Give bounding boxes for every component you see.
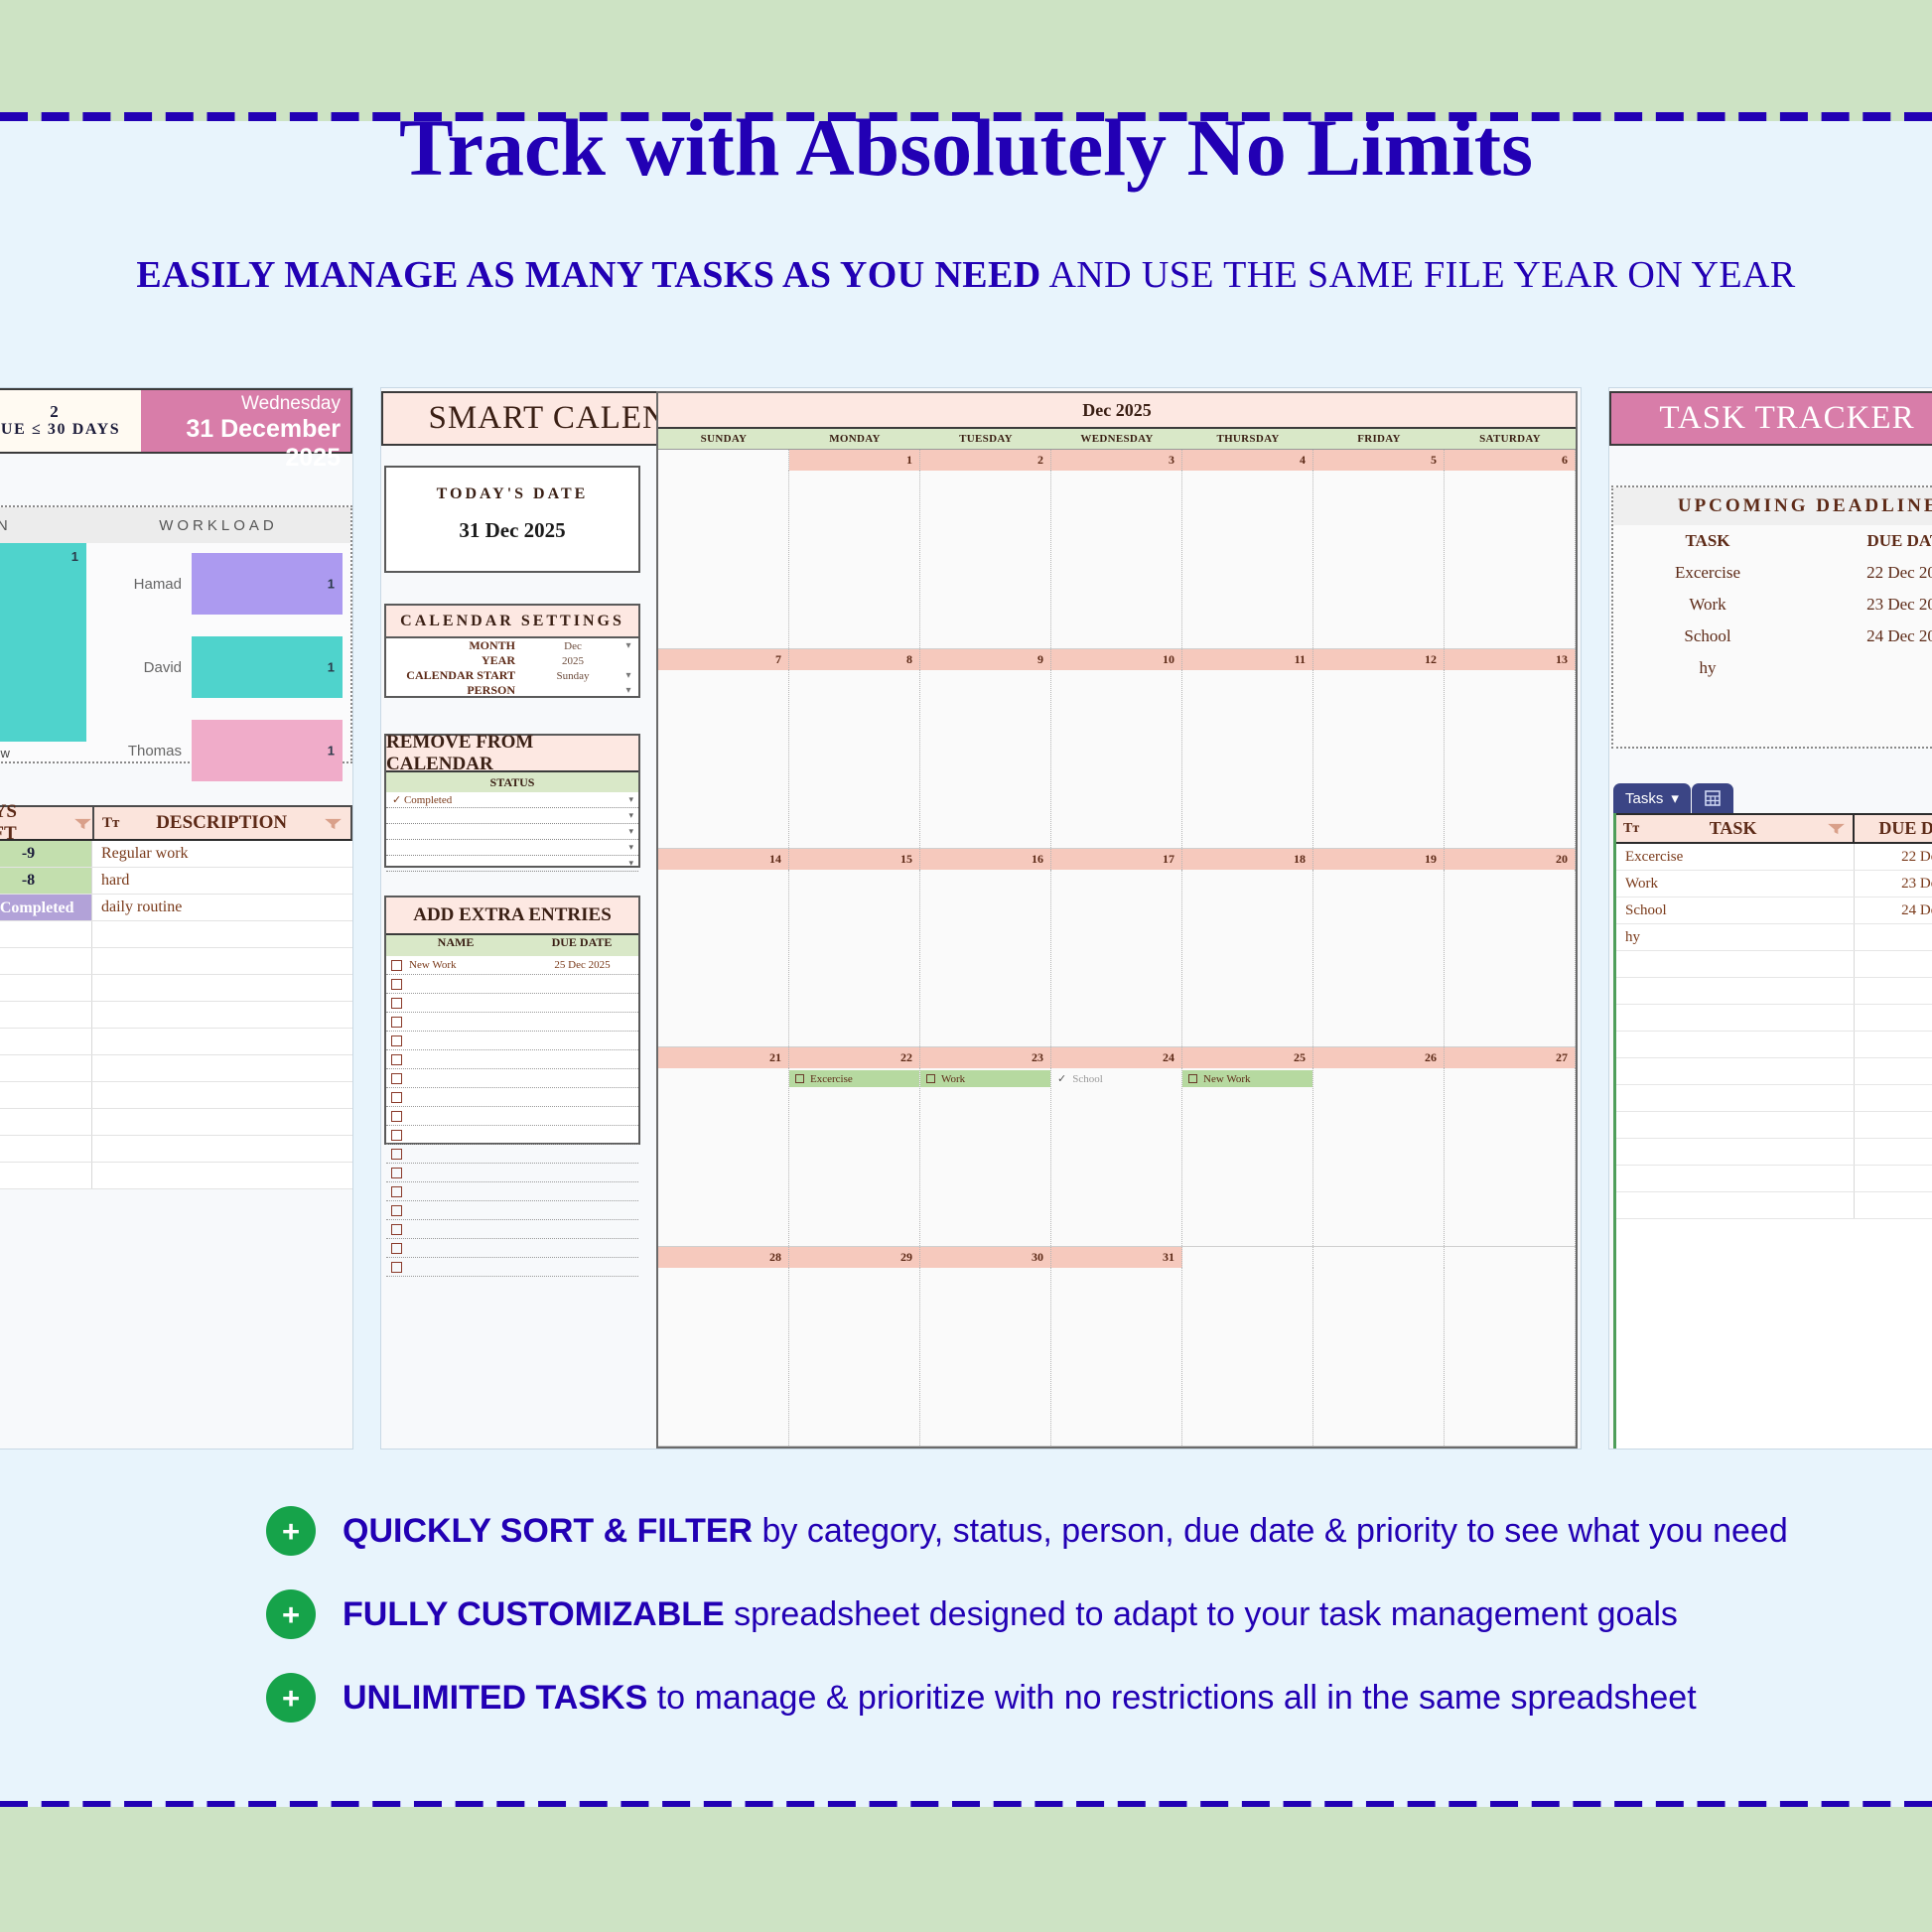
calendar-day-number[interactable]: 14 [658, 849, 789, 870]
checkbox-icon[interactable] [391, 998, 402, 1009]
extra-col-name-label: NAME [386, 935, 525, 956]
workload-value: 1 [328, 660, 335, 675]
calendar-day-number[interactable]: 2 [920, 450, 1051, 471]
extra-col-due-label: DUE DATE [525, 935, 638, 956]
upcoming-deadlines-card: UPCOMING DEADLINES TASK DUE DATE Excerci… [1611, 485, 1932, 749]
chevron-down-icon[interactable]: ▾ [1671, 789, 1679, 807]
extra-entry-row [386, 994, 638, 1013]
calendar-event-cells [658, 1268, 1576, 1446]
cell-days-left [0, 1082, 92, 1108]
remove-status-col-label: STATUS [386, 772, 638, 792]
calendar-day-cell[interactable] [658, 471, 789, 648]
table-row [0, 1163, 352, 1189]
cell-description [92, 1029, 352, 1054]
tasks-table-left-body: -9Regular work-8hard✓ Completeddaily rou… [0, 841, 352, 1189]
calendar-day-number[interactable]: 8 [789, 649, 920, 670]
workload-person-name: David [96, 659, 192, 676]
col-days-left[interactable]: DAYS LEFT [0, 807, 94, 839]
cell-days-left [0, 921, 92, 947]
cell-due-date[interactable] [1855, 1112, 1932, 1138]
col-task-right-label: TASK [1651, 818, 1815, 839]
feature-bullet: +QUICKLY SORT & FILTER by category, stat… [0, 1489, 1932, 1573]
calendar-day-cell[interactable] [1182, 1268, 1313, 1446]
cell-due-date[interactable]: 24 Dec 2025 [1855, 897, 1932, 923]
filter-icon[interactable] [1827, 822, 1846, 835]
remove-status-rows: ✓ Completed▾▾▾▾▾ [386, 792, 638, 872]
upcoming-task: hy [1613, 658, 1802, 678]
calendar-weekday: SATURDAY [1445, 429, 1576, 449]
cell-description [92, 1055, 352, 1081]
calendar-week-row: 28293031 [658, 1247, 1576, 1447]
calendar-day-number[interactable]: 16 [920, 849, 1051, 870]
setting-value: 2025 [527, 655, 619, 667]
cell-due-date[interactable] [1855, 924, 1932, 950]
tab-tasks[interactable]: Tasks ▾ [1613, 783, 1691, 813]
calendar-day-number[interactable]: 24 [1051, 1047, 1182, 1068]
remove-status-dropdown[interactable]: ▾ [386, 824, 638, 840]
screenshot-strip: 2 DUE ≤ 30 DAYS Wednesday 31 December 20… [0, 387, 1932, 1449]
checkbox-icon[interactable] [391, 1149, 402, 1160]
cell-task[interactable] [1616, 1005, 1855, 1031]
add-extra-entries-rows: New Work25 Dec 2025 [386, 956, 638, 1277]
checkbox-icon[interactable] [391, 960, 402, 971]
calendar-day-cell[interactable] [1313, 471, 1445, 648]
remove-status-dropdown[interactable]: ✓ Completed▾ [386, 792, 638, 808]
calendar-day-cell[interactable] [1051, 670, 1182, 848]
table-row [0, 1136, 352, 1163]
cell-description: daily routine [92, 895, 352, 920]
add-sheet-button[interactable] [1692, 783, 1733, 813]
calendar-day-numbers: 28293031 [658, 1247, 1576, 1268]
extra-entry-row [386, 1032, 638, 1050]
extra-entry-row [386, 1258, 638, 1277]
calendar-day-cell[interactable] [658, 670, 789, 848]
cell-due-date[interactable] [1855, 1058, 1932, 1084]
calendar-day-cell[interactable] [658, 1268, 789, 1446]
calendar-event-cells: ExcerciseWork✓SchoolNew Work [658, 1068, 1576, 1246]
calendar-day-numbers: 21222324252627 [658, 1047, 1576, 1068]
cell-due-date[interactable]: 22 Dec 2025 [1855, 844, 1932, 870]
cell-task[interactable] [1616, 1166, 1855, 1191]
calendar-weekday: TUESDAY [920, 429, 1051, 449]
dashboard-topbar: 2 DUE ≤ 30 DAYS Wednesday 31 December 20… [0, 388, 352, 454]
calendar-day-cell[interactable] [789, 471, 920, 648]
calendar-day-cell[interactable] [1182, 670, 1313, 848]
checkbox-icon[interactable] [391, 979, 402, 990]
upcoming-col-due: DUE DATE [1802, 531, 1932, 551]
setting-key: MONTH [386, 638, 527, 653]
calendar-day-cell[interactable] [1445, 670, 1576, 848]
calendar-day-number[interactable]: 5 [1313, 450, 1445, 471]
cell-days-left [0, 1002, 92, 1028]
calendar-month-label: Dec 2025 [658, 393, 1576, 429]
checkbox-icon[interactable] [391, 1168, 402, 1178]
task-tracker-panel: TASK TRACKER UPCOMING DEADLINES TASK DUE… [1608, 387, 1932, 1449]
table-row [1616, 1166, 1932, 1192]
add-extra-entries-card: ADD EXTRA ENTRIES NAME DUE DATE New Work… [384, 896, 640, 1145]
calendar-day-cell[interactable] [1313, 1268, 1445, 1446]
cell-due-date[interactable] [1855, 1032, 1932, 1057]
remove-from-calendar-title: REMOVE FROM CALENDAR [386, 736, 638, 772]
calendar-day-number[interactable]: 17 [1051, 849, 1182, 870]
chevron-down-icon[interactable]: ▾ [628, 842, 633, 853]
calendar-day-numbers: 123456 [658, 450, 1576, 471]
cell-task[interactable] [1616, 1085, 1855, 1111]
checkbox-icon[interactable] [926, 1074, 935, 1083]
calendar-day-number[interactable]: 13 [1445, 649, 1576, 670]
table-row [1616, 1058, 1932, 1085]
calendar-day-number[interactable]: 26 [1313, 1047, 1445, 1068]
setting-value: Sunday [527, 670, 619, 682]
calendar-event[interactable]: Excercise [789, 1070, 919, 1087]
setting-row[interactable]: MONTHDec▾ [386, 638, 638, 653]
tasks-table-left: DAYS LEFT Tᴛ DESCRIPTION -9Regular work-… [0, 805, 352, 1189]
checkbox-icon[interactable] [391, 1130, 402, 1141]
cell-description [92, 921, 352, 947]
chevron-down-icon[interactable]: ▾ [628, 810, 633, 821]
feature-bullet-bold: UNLIMITED TASKS [343, 1679, 647, 1717]
cell-due-date[interactable] [1855, 951, 1932, 977]
cell-task[interactable] [1616, 1032, 1855, 1057]
today-date-card: Wednesday 31 December 2025 [141, 390, 350, 452]
today-weekday: Wednesday [141, 394, 341, 415]
cell-task[interactable] [1616, 1139, 1855, 1165]
checkbox-icon[interactable] [391, 1092, 402, 1103]
upcoming-due: 24 Dec 2025 [1802, 626, 1932, 646]
calendar-day-number[interactable]: 30 [920, 1247, 1051, 1268]
check-icon: ✓ [1057, 1072, 1066, 1085]
calendar-weekday: THURSDAY [1182, 429, 1313, 449]
table-row [1616, 1192, 1932, 1219]
calendar-day-number[interactable]: 10 [1051, 649, 1182, 670]
extra-entry-due[interactable]: 25 Dec 2025 [526, 959, 638, 971]
calendar-day-number[interactable]: 31 [1051, 1247, 1182, 1268]
calendar-day-number[interactable]: 21 [658, 1047, 789, 1068]
calendar-day-number[interactable]: 19 [1313, 849, 1445, 870]
workload-chart-header: Y N WORKLOAD [0, 507, 350, 543]
bottom-green-band [0, 1807, 1932, 1932]
calendar-day-cell[interactable] [1445, 1268, 1576, 1446]
col-text-type-icon: Tᴛ [102, 815, 119, 832]
cell-due-date[interactable]: 23 Dec 2025 [1855, 871, 1932, 897]
cell-description [92, 1163, 352, 1188]
upcoming-col-task: TASK [1613, 531, 1802, 551]
checkbox-icon[interactable] [391, 1073, 402, 1084]
feature-bullet-rest: by category, status, person, due date & … [753, 1512, 1788, 1550]
upcoming-row: Work23 Dec 2025 [1613, 589, 1932, 621]
calendar-day-cell[interactable] [920, 471, 1051, 648]
extra-entry-row [386, 1013, 638, 1032]
chevron-down-icon[interactable]: ▾ [628, 826, 633, 837]
cell-description [92, 1002, 352, 1028]
upcoming-deadlines-title: UPCOMING DEADLINES [1613, 487, 1932, 525]
checkbox-icon[interactable] [391, 1224, 402, 1235]
table-row [0, 1109, 352, 1136]
cell-due-date[interactable] [1855, 1139, 1932, 1165]
calendar-day-number[interactable]: 28 [658, 1247, 789, 1268]
cell-task[interactable] [1616, 1112, 1855, 1138]
filter-icon[interactable] [73, 817, 92, 830]
remove-status-dropdown[interactable]: ▾ [386, 856, 638, 872]
workload-person-name: Thomas [96, 743, 192, 759]
extra-entry-row [386, 1050, 638, 1069]
checkbox-icon[interactable] [795, 1074, 804, 1083]
chevron-down-icon[interactable]: ▾ [619, 685, 638, 696]
col-due-right[interactable]: DUE DATE [1855, 818, 1932, 839]
upcoming-row: Excercise22 Dec 2025 [1613, 557, 1932, 589]
checkbox-icon[interactable] [1188, 1074, 1197, 1083]
calendar-day-cell[interactable]: Excercise [789, 1068, 920, 1246]
calendar-day-number[interactable]: 18 [1182, 849, 1313, 870]
feature-bullet-text: FULLY CUSTOMIZABLE spreadsheet designed … [343, 1595, 1678, 1634]
calendar-day-number[interactable]: 22 [789, 1047, 920, 1068]
calendar-event-cells [658, 471, 1576, 648]
feature-bullet-text: QUICKLY SORT & FILTER by category, statu… [343, 1512, 1788, 1551]
legend-low-label: Low [0, 746, 10, 760]
calendar-event[interactable]: ✓School [1051, 1070, 1181, 1087]
workload-bar: 1 [192, 636, 343, 698]
feature-bullet-rest: to manage & prioritize with no restricti… [647, 1679, 1696, 1717]
plus-icon: + [266, 1673, 316, 1723]
table-row [0, 921, 352, 948]
cell-days-left [0, 1163, 92, 1188]
status-bar-teal: 1 [0, 543, 86, 742]
plus-icon: + [266, 1506, 316, 1556]
calendar-day-cell[interactable] [1051, 471, 1182, 648]
chart-col-left-label: Y N [0, 517, 86, 534]
calendar-day-numbers: 78910111213 [658, 649, 1576, 670]
todays-date-value: 31 Dec 2025 [386, 503, 638, 543]
cell-due-date[interactable] [1855, 1166, 1932, 1191]
subtitle-strong: EASILY MANAGE AS MANY TASKS AS YOU NEED [136, 254, 1040, 296]
feature-bullet-rest: spreadsheet designed to adapt to your ta… [725, 1595, 1678, 1633]
upcoming-due: 22 Dec 2025 [1802, 563, 1932, 583]
cell-days-left [0, 1136, 92, 1162]
calendar-day-cell[interactable]: ✓School [1051, 1068, 1182, 1246]
page-subtitle: EASILY MANAGE AS MANY TASKS AS YOU NEED … [0, 253, 1932, 297]
table-row [0, 1082, 352, 1109]
calendar-settings-rows: MONTHDec▾YEAR2025CALENDAR STARTSunday▾PE… [386, 638, 638, 698]
calendar-day-cell[interactable] [1313, 870, 1445, 1047]
setting-key: PERSON [386, 683, 527, 698]
calendar-day-cell[interactable] [920, 870, 1051, 1047]
calendar-day-cell[interactable] [1313, 670, 1445, 848]
cell-days-left [0, 1029, 92, 1054]
workload-bar-list: Hamad1David1Thomas1 [96, 553, 343, 756]
calendar-day-cell[interactable] [789, 1268, 920, 1446]
table-row: Excercise22 Dec 2025 [1616, 844, 1932, 871]
checkbox-icon[interactable] [391, 1205, 402, 1216]
calendar-settings-card: CALENDAR SETTINGS MONTHDec▾YEAR2025CALEN… [384, 604, 640, 698]
calendar-day-number[interactable]: 7 [658, 649, 789, 670]
calendar-day-number[interactable]: 3 [1051, 450, 1182, 471]
calendar-day-number[interactable]: 23 [920, 1047, 1051, 1068]
col-text-type-icon: Tᴛ [1623, 821, 1639, 837]
extra-entry-row: New Work25 Dec 2025 [386, 956, 638, 975]
col-description-left-label: DESCRIPTION [133, 812, 310, 834]
cell-task[interactable]: Excercise [1616, 844, 1855, 870]
today-date: 31 December 2025 [141, 415, 341, 473]
calendar-day-cell[interactable] [1445, 471, 1576, 648]
calendar-event-cells [658, 670, 1576, 848]
table-row [1616, 1112, 1932, 1139]
extra-entry-row [386, 1201, 638, 1220]
add-extra-entries-title: ADD EXTRA ENTRIES [386, 897, 638, 935]
cell-task[interactable] [1616, 1058, 1855, 1084]
table-row [1616, 1005, 1932, 1032]
workload-bar: 1 [192, 720, 343, 781]
filter-icon[interactable] [324, 817, 343, 830]
calendar-day-cell[interactable] [1313, 1068, 1445, 1246]
due-label: DUE ≤ 30 DAYS [0, 421, 120, 439]
calendar-day-cell[interactable] [658, 1068, 789, 1246]
upcoming-deadlines-rows: Excercise22 Dec 2025Work23 Dec 2025Schoo… [1613, 557, 1932, 684]
cell-task[interactable]: hy [1616, 924, 1855, 950]
calendar-day-number[interactable]: 20 [1445, 849, 1576, 870]
feature-bullet: +UNLIMITED TASKS to manage & prioritize … [0, 1656, 1932, 1739]
tasks-table-right: Tᴛ TASK DUE DATE Excercise22 Dec 2025Wor… [1613, 813, 1932, 1449]
workload-bar: 1 [192, 553, 343, 615]
feature-bullet-bold: QUICKLY SORT & FILTER [343, 1512, 753, 1550]
calendar-day-cell[interactable] [1182, 870, 1313, 1047]
calendar-day-cell[interactable] [920, 1268, 1051, 1446]
calendar-day-number[interactable]: 4 [1182, 450, 1313, 471]
calendar-day-cell[interactable] [920, 670, 1051, 848]
checkbox-icon[interactable] [391, 1017, 402, 1028]
calendar-day-cell[interactable] [789, 670, 920, 848]
calendar-day-cell[interactable] [1445, 1068, 1576, 1246]
calendar-day-number[interactable]: 6 [1445, 450, 1576, 471]
chevron-down-icon[interactable]: ▾ [628, 858, 633, 869]
extra-entry-row [386, 975, 638, 994]
tasks-table-right-header: Tᴛ TASK DUE DATE [1616, 813, 1932, 844]
table-row [0, 975, 352, 1002]
cell-due-date[interactable] [1855, 1085, 1932, 1111]
workload-row: Thomas1 [96, 720, 343, 781]
calendar-day-cell[interactable] [1445, 870, 1576, 1047]
calendar-day-number[interactable]: 9 [920, 649, 1051, 670]
calendar-event[interactable]: New Work [1182, 1070, 1312, 1087]
chevron-down-icon[interactable]: ▾ [628, 794, 633, 805]
calendar-day-number[interactable] [658, 450, 789, 471]
col-description-left[interactable]: Tᴛ DESCRIPTION [94, 812, 350, 834]
calendar-event-label: School [1072, 1073, 1103, 1085]
calendar-day-cell[interactable] [658, 870, 789, 1047]
chart-col-right-label: WORKLOAD [86, 517, 350, 534]
calendar-day-cell[interactable] [789, 870, 920, 1047]
extra-entry-row [386, 1164, 638, 1182]
calendar-day-number[interactable]: 15 [789, 849, 920, 870]
due-count: 2 [50, 403, 59, 422]
calendar-day-number[interactable] [1313, 1247, 1445, 1268]
todays-date-label: TODAY'S DATE [386, 468, 638, 503]
remove-status-dropdown[interactable]: ▾ [386, 840, 638, 856]
cell-due-date[interactable] [1855, 978, 1932, 1004]
upcoming-task: Excercise [1613, 563, 1802, 583]
calendar-day-number[interactable]: 27 [1445, 1047, 1576, 1068]
extra-entry-row [386, 1088, 638, 1107]
todays-date-card: TODAY'S DATE 31 Dec 2025 [384, 466, 640, 573]
calendar-event[interactable]: Work [920, 1070, 1050, 1087]
page-title: Track with Absolutely No Limits [0, 101, 1932, 195]
setting-value: Dec [527, 640, 619, 652]
cell-task[interactable]: School [1616, 897, 1855, 923]
calendar-weekday: SUNDAY [658, 429, 789, 449]
table-row [0, 1029, 352, 1055]
table-row [1616, 978, 1932, 1005]
table-row [1616, 951, 1932, 978]
calendar-day-number[interactable]: 29 [789, 1247, 920, 1268]
add-extra-entries-header: NAME DUE DATE [386, 935, 638, 956]
workload-row: David1 [96, 636, 343, 698]
calendar-day-number[interactable] [1182, 1247, 1313, 1268]
extra-entry-row [386, 1182, 638, 1201]
calendar-day-number[interactable]: 12 [1313, 649, 1445, 670]
calendar-day-cell[interactable] [1051, 1268, 1182, 1446]
cell-task[interactable] [1616, 1192, 1855, 1218]
cell-description [92, 975, 352, 1001]
checkbox-icon[interactable] [391, 1186, 402, 1197]
setting-row[interactable]: YEAR2025 [386, 653, 638, 668]
calendar-week-row: 123456 [658, 450, 1576, 649]
due-30-days-card: 2 DUE ≤ 30 DAYS [0, 390, 141, 452]
checkbox-icon[interactable] [391, 1262, 402, 1273]
smart-calendar-panel: SMART CALENDAR TODAY'S DATE 31 Dec 2025 … [380, 387, 1582, 1449]
cell-description [92, 948, 352, 974]
cell-task[interactable] [1616, 951, 1855, 977]
setting-row[interactable]: CALENDAR STARTSunday▾ [386, 668, 638, 683]
calendar-day-number[interactable]: 1 [789, 450, 920, 471]
table-row [1616, 1032, 1932, 1058]
chevron-down-icon[interactable]: ▾ [619, 640, 638, 651]
calendar-day-cell[interactable] [1051, 870, 1182, 1047]
checkbox-icon[interactable] [391, 1111, 402, 1122]
subtitle-rest: AND USE THE SAME FILE YEAR ON YEAR [1041, 254, 1796, 296]
checkbox-icon[interactable] [391, 1054, 402, 1065]
cell-days-left [0, 975, 92, 1001]
workload-person-name: Hamad [96, 576, 192, 593]
calendar-day-number[interactable] [1445, 1247, 1576, 1268]
chevron-down-icon[interactable]: ▾ [619, 670, 638, 681]
calendar-day-cell[interactable]: Work [920, 1068, 1051, 1246]
cell-due-date[interactable] [1855, 1192, 1932, 1218]
extra-entry-name[interactable]: New Work [409, 959, 526, 971]
calendar-day-cell[interactable] [1182, 471, 1313, 648]
cell-days-left [0, 1109, 92, 1135]
checkbox-icon[interactable] [391, 1243, 402, 1254]
calendar-day-cell[interactable]: New Work [1182, 1068, 1313, 1246]
setting-key: CALENDAR START [386, 668, 527, 683]
cell-task[interactable] [1616, 978, 1855, 1004]
upcoming-task: School [1613, 626, 1802, 646]
cell-days-left [0, 1055, 92, 1081]
calendar-day-number[interactable]: 11 [1182, 649, 1313, 670]
upcoming-due: 23 Dec 2025 [1802, 595, 1932, 615]
cell-task[interactable]: Work [1616, 871, 1855, 897]
calendar-day-number[interactable]: 25 [1182, 1047, 1313, 1068]
setting-row[interactable]: PERSON▾ [386, 683, 638, 698]
cell-due-date[interactable] [1855, 1005, 1932, 1031]
checkbox-icon[interactable] [391, 1035, 402, 1046]
col-task-right[interactable]: Tᴛ TASK [1616, 815, 1855, 842]
tasks-table-right-body: Excercise22 Dec 2025Work23 Dec 2025Schoo… [1616, 844, 1932, 1219]
remove-status-value: ✓ Completed [392, 793, 452, 806]
table-row: ✓ Completeddaily routine [0, 895, 352, 921]
grid-icon [1703, 788, 1723, 808]
extra-entry-row [386, 1145, 638, 1164]
remove-from-calendar-card: REMOVE FROM CALENDAR STATUS ✓ Completed▾… [384, 734, 640, 868]
remove-status-dropdown[interactable]: ▾ [386, 808, 638, 824]
